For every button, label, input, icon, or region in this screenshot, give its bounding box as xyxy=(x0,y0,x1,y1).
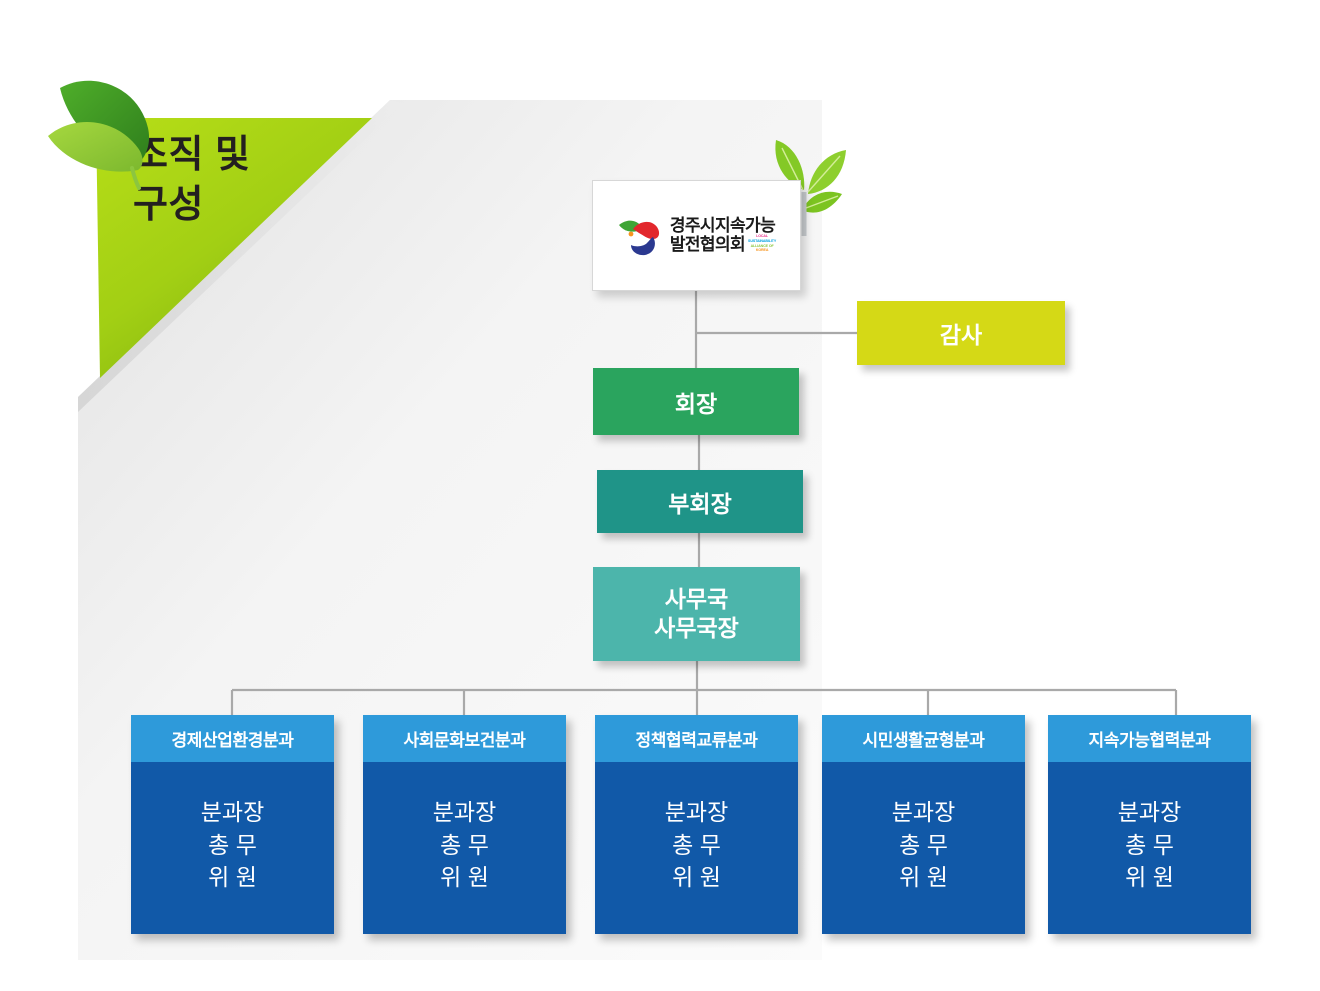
department-column-1: 경제산업환경분과 분과장 총 무 위 원 xyxy=(131,715,334,934)
role-general-affairs-2: 총 무 xyxy=(440,829,489,862)
node-auditor: 감사 xyxy=(857,301,1065,365)
logo-line-2: 발전협의회 xyxy=(670,236,745,254)
role-chief-3: 분과장 xyxy=(665,796,728,829)
role-member-1: 위 원 xyxy=(208,861,257,894)
department-roles-3: 분과장 총 무 위 원 xyxy=(595,762,798,934)
org-chart-page: 조직 및 구성 xyxy=(0,0,1320,991)
department-roles-4: 분과장 총 무 위 원 xyxy=(822,762,1025,934)
department-column-3: 정책협력교류분과 분과장 총 무 위 원 xyxy=(595,715,798,934)
department-title-2: 사회문화보건분과 xyxy=(363,715,566,762)
logo-micro-line-4: KOREA xyxy=(748,249,776,253)
department-title-4: 시민생활균형분과 xyxy=(822,715,1025,762)
department-roles-5: 분과장 총 무 위 원 xyxy=(1048,762,1251,934)
department-roles-2: 분과장 총 무 위 원 xyxy=(363,762,566,934)
node-chairperson: 회장 xyxy=(593,368,799,435)
department-title-1: 경제산업환경분과 xyxy=(131,715,334,762)
page-title: 조직 및 구성 xyxy=(133,130,363,230)
role-general-affairs-4: 총 무 xyxy=(899,829,948,862)
role-general-affairs-5: 총 무 xyxy=(1125,829,1174,862)
role-chief-1: 분과장 xyxy=(201,796,264,829)
department-title-3: 정책협력교류분과 xyxy=(595,715,798,762)
role-chief-2: 분과장 xyxy=(433,796,496,829)
role-member-3: 위 원 xyxy=(672,861,721,894)
department-roles-1: 분과장 총 무 위 원 xyxy=(131,762,334,934)
organization-logo-box: 경주시지속가능 발전협의회 LOCAL SUSTAINABILITY ALLIA… xyxy=(592,180,801,291)
department-title-5: 지속가능협력분과 xyxy=(1048,715,1251,762)
role-general-affairs-3: 총 무 xyxy=(672,829,721,862)
department-column-4: 시민생활균형분과 분과장 총 무 위 원 xyxy=(822,715,1025,934)
role-chief-4: 분과장 xyxy=(892,796,955,829)
organization-wordmark: 경주시지속가능 발전협의회 LOCAL SUSTAINABILITY ALLIA… xyxy=(670,217,776,254)
organization-emblem-icon xyxy=(617,215,663,257)
role-general-affairs-1: 총 무 xyxy=(208,829,257,862)
node-secretariat: 사무국 사무국장 xyxy=(593,567,800,661)
role-member-5: 위 원 xyxy=(1125,861,1174,894)
role-member-4: 위 원 xyxy=(899,861,948,894)
department-column-2: 사회문화보건분과 분과장 총 무 위 원 xyxy=(363,715,566,934)
role-chief-5: 분과장 xyxy=(1118,796,1181,829)
logo-micro-text: LOCAL SUSTAINABILITY ALLIANCE OF KOREA xyxy=(748,235,776,253)
logo-line-1: 경주시지속가능 xyxy=(670,217,775,235)
node-vice-chairperson: 부회장 xyxy=(597,470,803,533)
department-column-5: 지속가능협력분과 분과장 총 무 위 원 xyxy=(1048,715,1251,934)
role-member-2: 위 원 xyxy=(440,861,489,894)
